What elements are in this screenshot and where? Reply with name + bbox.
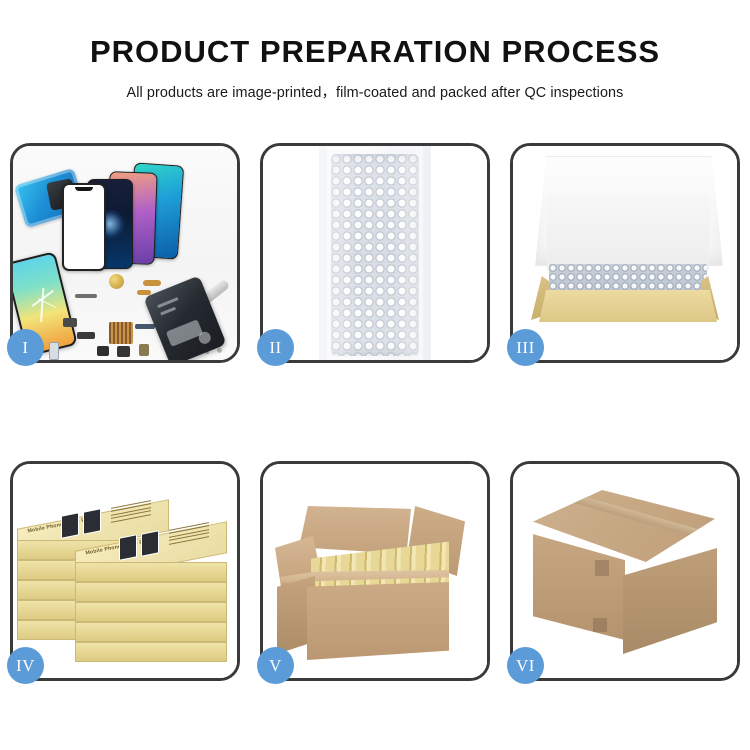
retail-box-edge [75, 582, 227, 602]
sim-tray-part [139, 344, 149, 356]
inner-box-interior [547, 194, 709, 270]
step-badge-5: V [257, 647, 294, 684]
box-artwork-phone [141, 530, 159, 556]
plastic-gloss-highlight [327, 146, 423, 360]
grille-mesh-part [109, 322, 133, 344]
step-badge-2: II [257, 329, 294, 366]
page-subtitle: All products are image-printed，film-coat… [0, 81, 750, 102]
carton-seam-mark [595, 560, 609, 576]
retail-box-edge [75, 602, 227, 622]
step-image-2 [263, 146, 487, 360]
bubble-wrapped-product [549, 264, 707, 294]
retail-box-edge [75, 562, 227, 582]
step-panel-4: Mobile Phone Spare Parts Mobile Phone Sp… [10, 461, 240, 681]
step-panel-2: II [260, 143, 490, 363]
flex-cable-part [143, 280, 161, 286]
retail-box-edge [75, 642, 227, 662]
screw-part [217, 348, 222, 353]
step-badge-1: I [7, 329, 44, 366]
step-image-6 [513, 464, 737, 678]
button-part [97, 346, 109, 356]
box-artwork-phone [83, 508, 101, 534]
steps-grid: I II III [10, 143, 740, 683]
earpiece-part [117, 346, 130, 357]
crack-line [40, 288, 44, 322]
carton-seam-mark [593, 618, 607, 632]
camera-module-part [77, 332, 95, 339]
step-badge-6: VI [507, 647, 544, 684]
step-badge-3: III [507, 329, 544, 366]
page-title: PRODUCT PREPARATION PROCESS [0, 36, 750, 67]
step-image-1 [13, 146, 237, 360]
antenna-part [135, 324, 155, 329]
product-preparation-infographic: PRODUCT PREPARATION PROCESS All products… [0, 0, 750, 750]
step-panel-3: III [510, 143, 740, 363]
step-badge-4: IV [7, 647, 44, 684]
step-panel-1: I [10, 143, 240, 363]
speaker-coil-part [109, 274, 124, 289]
step-image-3 [513, 146, 737, 360]
vibrator-part [63, 318, 77, 327]
box-artwork-phone [61, 512, 79, 538]
retail-box-edge [75, 622, 227, 642]
inner-box-front-panel [539, 290, 717, 322]
connector-part [75, 294, 97, 298]
sim-card-part [49, 342, 59, 360]
carton-back-flap [299, 506, 411, 554]
box-artwork-phone [119, 534, 137, 560]
step-image-4: Mobile Phone Spare Parts Mobile Phone Sp… [13, 464, 237, 678]
step-panel-6: VI [510, 461, 740, 681]
tempered-glass-panel [62, 183, 106, 271]
step-panel-5: V [260, 461, 490, 681]
header: PRODUCT PREPARATION PROCESS All products… [0, 0, 750, 102]
carton-front-face [307, 582, 449, 660]
step-image-5 [263, 464, 487, 678]
notch-shape [75, 187, 93, 191]
retail-box-stack: Mobile Phone Spare Parts Mobile Phone Sp… [13, 478, 237, 678]
flex-cable-part [137, 290, 151, 295]
